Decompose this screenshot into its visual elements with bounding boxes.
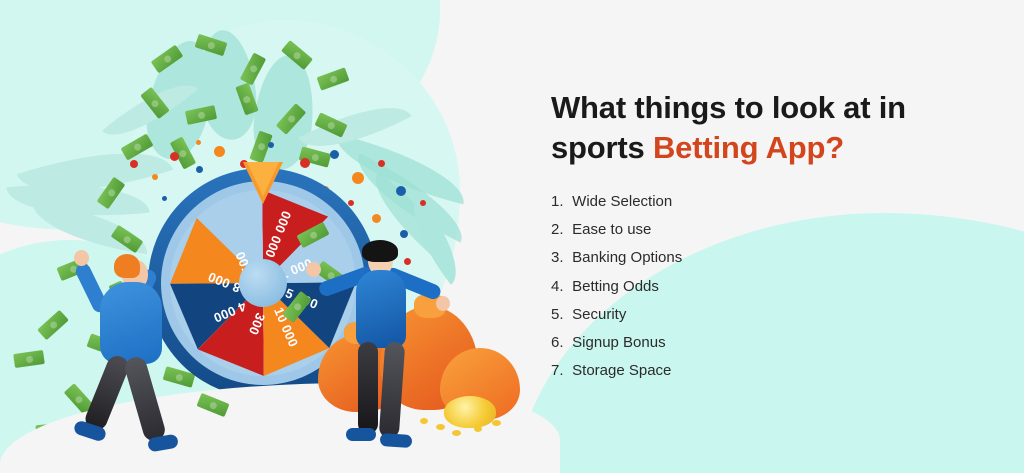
list-item: 6. Signup Bonus [551,329,981,357]
list-item-number: 6. [551,329,568,357]
list-item: 2. Ease to use [551,216,981,244]
list-item-number: 2. [551,216,568,244]
list-item-number: 3. [551,244,568,272]
list-item-number: 1. [551,188,568,216]
list-item-number: 5. [551,301,568,329]
jumping-person-with-money [60,238,210,453]
list-item: 3. Banking Options [551,244,981,272]
feature-list: 1. Wide Selection2. Ease to use3. Bankin… [551,188,981,385]
headline-line2-plain: sports [551,130,653,165]
list-item: 7. Storage Space [551,357,981,385]
list-item-label: Wide Selection [568,193,672,210]
list-item-label: Ease to use [568,221,651,238]
page-title: What things to look at in sports Betting… [551,88,981,168]
infographic-canvas: 1 000 0001 0005 00010 0003004 0008 00050… [0,0,1024,473]
list-item: 5. Security [551,301,981,329]
list-item: 1. Wide Selection [551,188,981,216]
list-item-label: Banking Options [568,249,682,266]
list-item-label: Betting Odds [568,278,659,295]
list-item-label: Storage Space [568,362,671,379]
standing-person-beside-sacks [340,240,470,445]
list-item: 4. Betting Odds [551,273,981,301]
list-item-number: 4. [551,273,568,301]
list-item-number: 7. [551,357,568,385]
headline-line2-accent: Betting App? [653,130,844,165]
text-panel: What things to look at in sports Betting… [551,88,981,385]
list-item-label: Signup Bonus [568,334,666,351]
wheel-hub [239,259,287,307]
pointer-triangle-icon [243,162,283,204]
list-item-label: Security [568,306,626,323]
headline-line1: What things to look at in [551,90,906,125]
